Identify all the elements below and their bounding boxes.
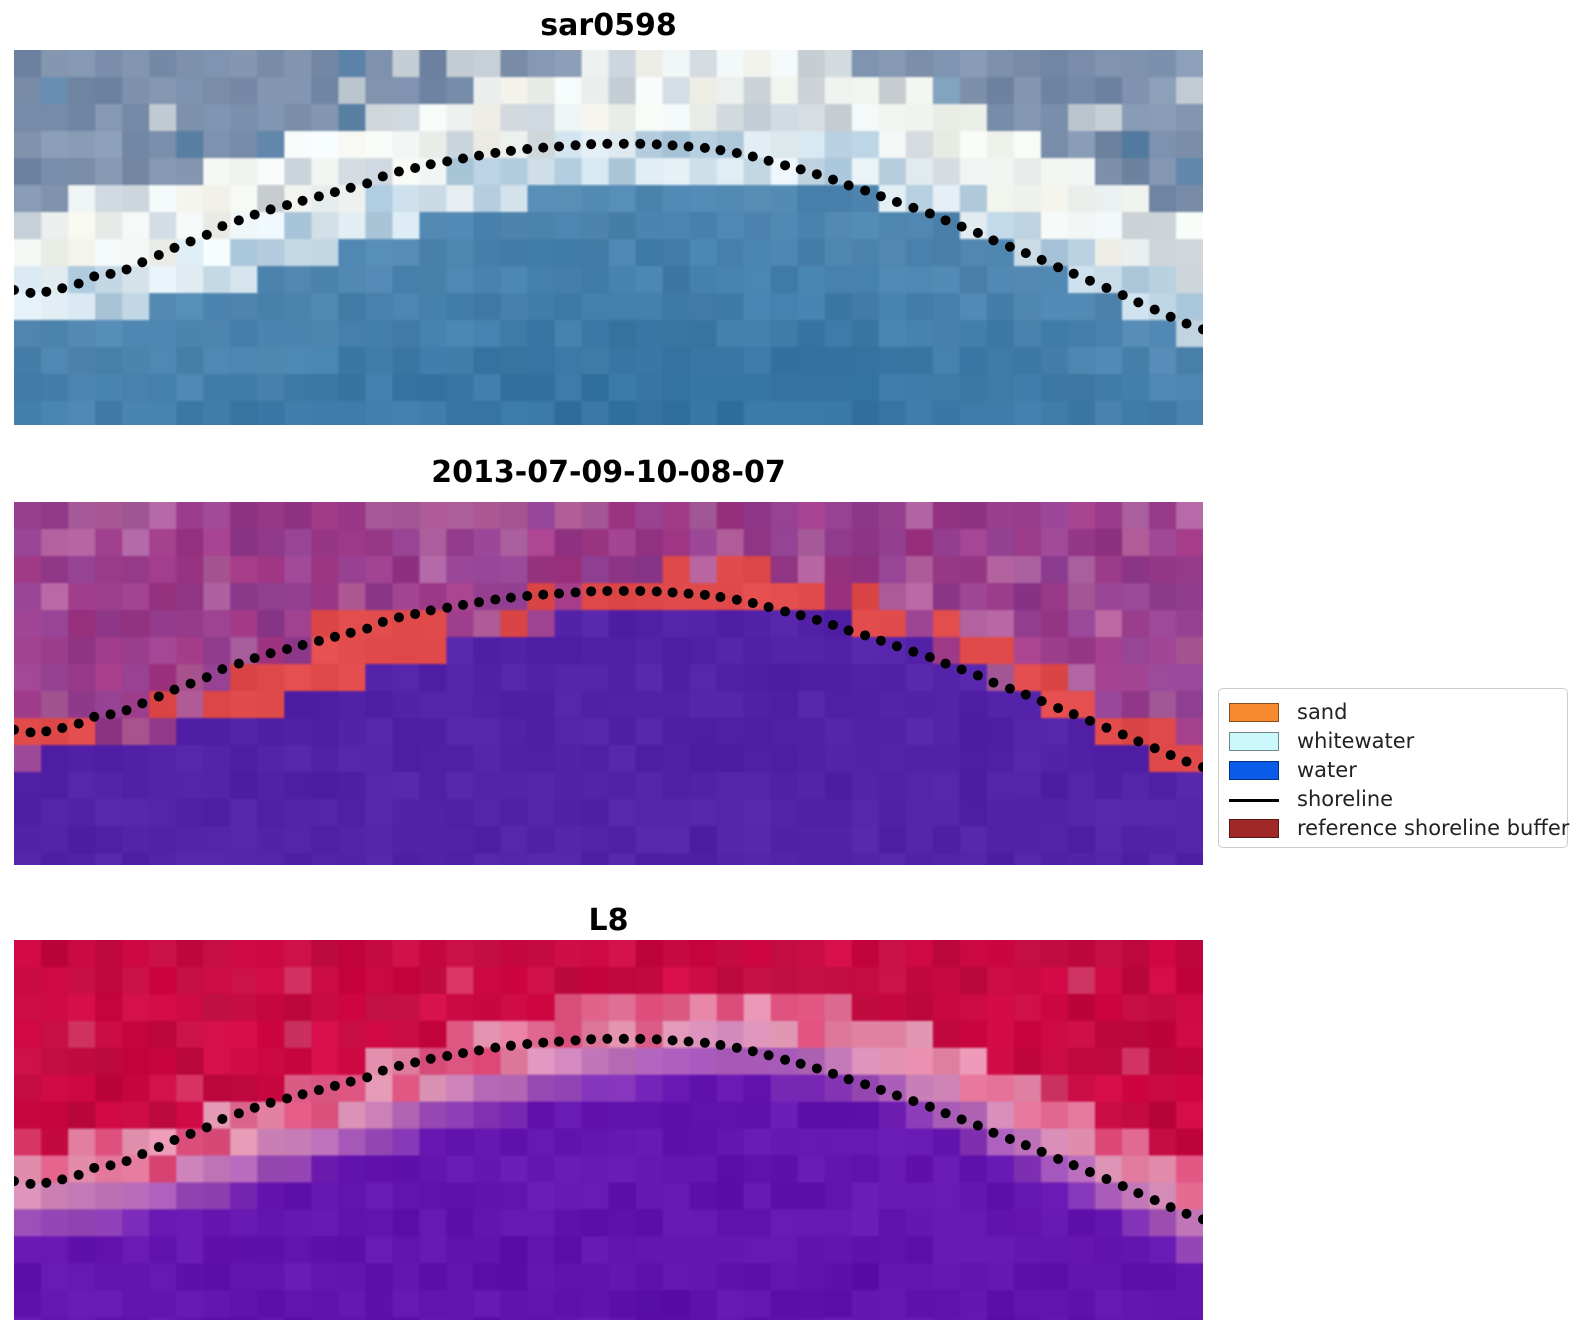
water-color-swatch-icon (1229, 761, 1279, 780)
legend-item-whitewater[interactable]: whitewater (1229, 727, 1557, 756)
panel-classified-image[interactable] (14, 502, 1203, 865)
spectral-index-image (14, 940, 1203, 1320)
legend-item-label: shoreline (1297, 789, 1393, 810)
panel-rgb-image[interactable] (14, 50, 1203, 425)
whitewater-color-swatch-icon (1229, 732, 1279, 751)
legend-item-shoreline[interactable]: shoreline (1229, 785, 1557, 814)
sand-color-swatch-icon (1229, 703, 1279, 722)
shoreline-line-swatch-icon (1229, 790, 1279, 809)
legend: sand whitewater water shoreline referenc… (1218, 688, 1568, 848)
panel-title-classified-image: 2013-07-09-10-08-07 (14, 455, 1203, 490)
panel-index-image[interactable] (14, 940, 1203, 1320)
legend-item-reference-shoreline-buffer[interactable]: reference shoreline buffer (1229, 814, 1557, 843)
rgb-satellite-image (14, 50, 1203, 425)
classification-overlay-image (14, 502, 1203, 865)
figure-canvas: sar0598 2013-07-09-10-08-07 L8 sand whit… (0, 0, 1580, 1337)
reference-shoreline-buffer-color-swatch-icon (1229, 819, 1279, 838)
panel-title-rgb-image: sar0598 (14, 8, 1203, 43)
legend-item-label: whitewater (1297, 731, 1414, 752)
legend-item-label: reference shoreline buffer (1297, 818, 1569, 839)
legend-item-label: water (1297, 760, 1357, 781)
panel-title-index-image: L8 (14, 903, 1203, 938)
legend-item-water[interactable]: water (1229, 756, 1557, 785)
legend-item-label: sand (1297, 702, 1347, 723)
legend-item-sand[interactable]: sand (1229, 698, 1557, 727)
